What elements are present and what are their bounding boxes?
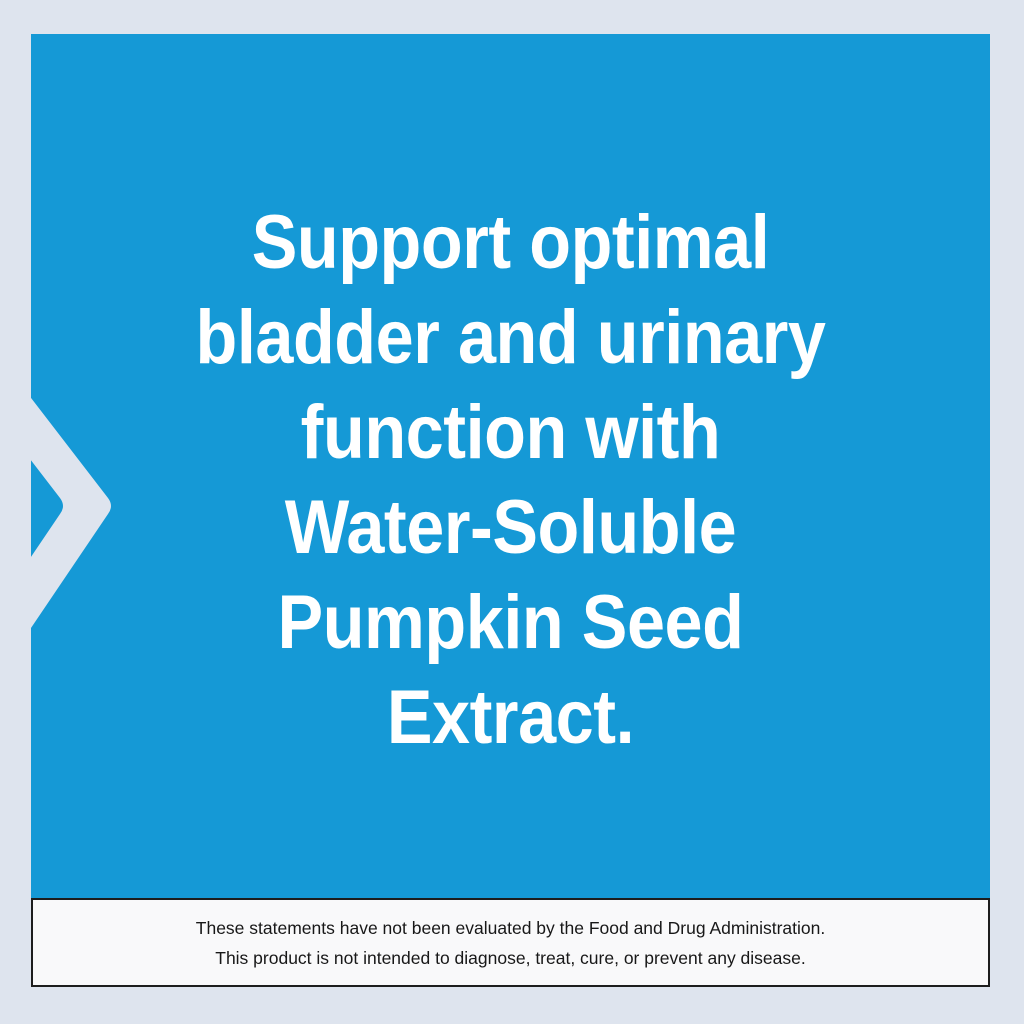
promo-graphic: Support optimal bladder and urinary func…	[0, 0, 1024, 1024]
disclaimer-line-1: These statements have not been evaluated…	[196, 913, 825, 943]
fda-disclaimer-box: These statements have not been evaluated…	[31, 898, 990, 987]
disclaimer-line-2: This product is not intended to diagnose…	[215, 943, 806, 973]
page-title: Support optimal bladder and urinary func…	[79, 195, 942, 765]
